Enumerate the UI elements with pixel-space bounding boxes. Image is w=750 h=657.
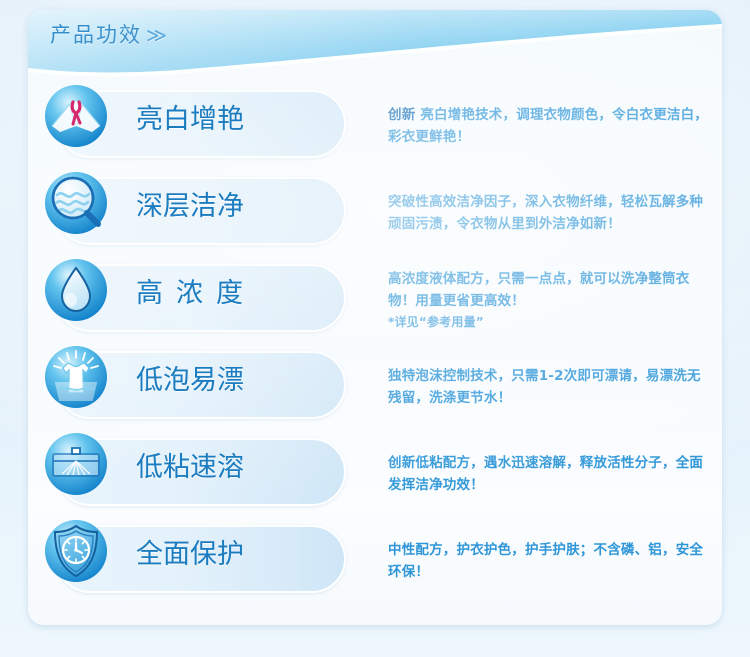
tshirt-basin-sparkle-icon (42, 343, 110, 411)
feature-description-text: 创新低粘配方，遇水迅速溶解，释放活性分子，全面发挥洁净功效！ (388, 452, 712, 496)
page-title: 产品功效≫ (50, 19, 167, 49)
feature-title: 低泡易漂 (136, 358, 244, 397)
feature-description-text: 独特泡沫控制技术，只需1-2次即可漂请，易漂洗无残留，洗涤更节水！ (388, 365, 712, 409)
feature-description-body: 创新低粘配方，遇水迅速溶解，释放活性分子，全面发挥洁净功效！ (388, 455, 703, 493)
section-banner: 产品功效≫ (28, 10, 722, 80)
feature-row[interactable]: 高浓度 高浓度液体配方，只需一点点，就可以洗净整筒衣物！用量更省更高效！ *详见… (28, 256, 722, 343)
feature-description: 创新 亮白增艳技术，调理衣物颜色，令白衣更洁白，彩衣更鲜艳！ (388, 82, 712, 169)
page-title-text: 产品功效 (50, 23, 142, 47)
feature-description-text: 创新 亮白增艳技术，调理衣物颜色，令白衣更洁白，彩衣更鲜艳！ (388, 104, 712, 148)
feature-description-text: 高浓度液体配方，只需一点点，就可以洗净整筒衣物！用量更省更高效！ (388, 268, 712, 312)
feature-row[interactable]: 深层洁净 突破性高效洁净因子，深入衣物纤维，轻松瓦解多种顽固污渍，令衣物从里到外… (28, 169, 722, 256)
feature-description-note: *详见“参考用量” (388, 312, 712, 332)
feature-title: 低粘速溶 (136, 445, 244, 484)
feature-description-text: 突破性高效洁净因子，深入衣物纤维，轻松瓦解多种顽固污渍，令衣物从里到外洁净如新！ (388, 191, 712, 235)
feature-row[interactable]: 低粘速溶 创新低粘配方，遇水迅速溶解，释放活性分子，全面发挥洁净功效！ (28, 430, 722, 517)
feature-description-text: 中性配方，护衣护色，护手护肤；不含磷、铝，安全环保！ (388, 539, 712, 583)
feature-description-lead: 创新 (388, 107, 415, 123)
water-droplet-icon (42, 256, 110, 324)
benefits-card: 产品功效≫ (28, 10, 722, 625)
feature-description-body: 中性配方，护衣护色，护手护肤；不含磷、铝，安全环保！ (388, 542, 703, 580)
feature-row[interactable]: 低泡易漂 独特泡沫控制技术，只需1-2次即可漂请，易漂洗无残留，洗涤更节水！ (28, 343, 722, 430)
feature-description: 突破性高效洁净因子，深入衣物纤维，轻松瓦解多种顽固污渍，令衣物从里到外洁净如新！ (388, 169, 712, 256)
feature-row[interactable]: 亮白增艳 创新 亮白增艳技术，调理衣物颜色，令白衣更洁白，彩衣更鲜艳！ (28, 82, 722, 169)
magnifier-fiber-icon (42, 169, 110, 237)
feature-row[interactable]: 全面保护 中性配方，护衣护色，护手护肤；不含磷、铝，安全环保！ (28, 517, 722, 604)
feature-title: 全面保护 (136, 532, 244, 571)
feature-title: 深层洁净 (136, 184, 244, 223)
feature-title: 高浓度 (136, 271, 256, 310)
feature-title: 亮白增艳 (136, 97, 244, 136)
dissolving-basin-icon (42, 430, 110, 498)
shirt-collar-ribbon-icon (42, 82, 110, 150)
feature-list: 亮白增艳 创新 亮白增艳技术，调理衣物颜色，令白衣更洁白，彩衣更鲜艳！ (28, 82, 722, 604)
feature-description-body: 突破性高效洁净因子，深入衣物纤维，轻松瓦解多种顽固污渍，令衣物从里到外洁净如新！ (388, 194, 703, 232)
feature-description: 高浓度液体配方，只需一点点，就可以洗净整筒衣物！用量更省更高效！ *详见“参考用… (388, 256, 712, 343)
feature-description: 创新低粘配方，遇水迅速溶解，释放活性分子，全面发挥洁净功效！ (388, 430, 712, 517)
product-benefits-page: 产品功效≫ (0, 0, 750, 657)
feature-description-body: 亮白增艳技术，调理衣物颜色，令白衣更洁白，彩衣更鲜艳！ (388, 107, 708, 145)
feature-description: 中性配方，护衣护色，护手护肤；不含磷、铝，安全环保！ (388, 517, 712, 604)
feature-description-body: 独特泡沫控制技术，只需1-2次即可漂请，易漂洗无残留，洗涤更节水！ (388, 368, 701, 406)
feature-description-body: 高浓度液体配方，只需一点点，就可以洗净整筒衣物！用量更省更高效！ (388, 271, 689, 309)
chevron-right-icon: ≫ (146, 23, 167, 47)
shield-clock-icon (42, 517, 110, 585)
feature-description: 独特泡沫控制技术，只需1-2次即可漂请，易漂洗无残留，洗涤更节水！ (388, 343, 712, 430)
